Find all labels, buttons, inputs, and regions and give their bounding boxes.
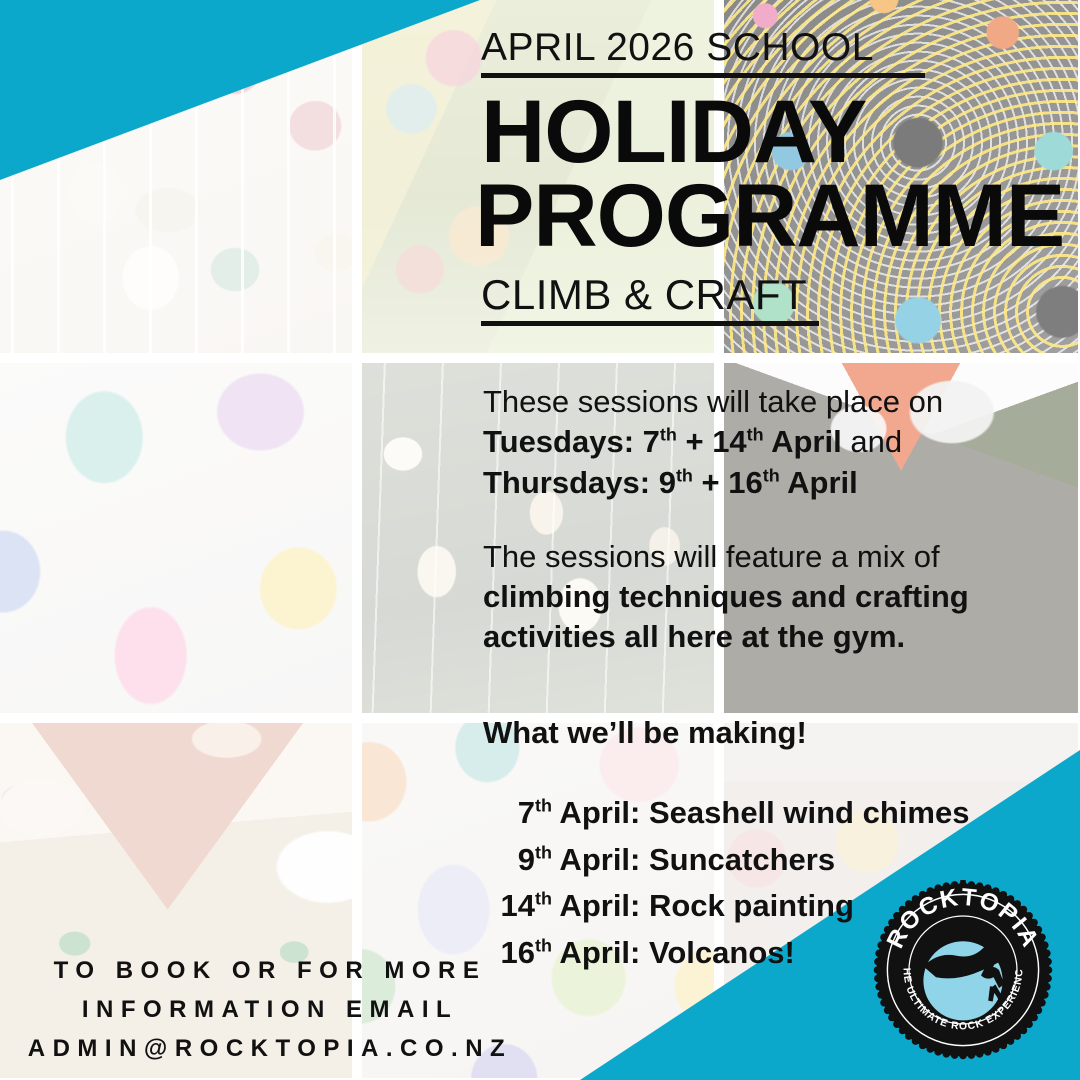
tuesdays-ordinal-1: th	[660, 425, 677, 445]
session-content-paragraph: The sessions will feature a mix of climb…	[483, 537, 1043, 658]
tuesdays-ordinal-2: th	[747, 425, 764, 445]
thursdays-line: Thursdays: 9th + 16th April	[483, 463, 1043, 503]
contact-email[interactable]: ADMIN@ROCKTOPIA.CO.NZ	[0, 1030, 540, 1069]
contact-block: TO BOOK OR FOR MORE INFORMATION EMAIL AD…	[0, 952, 540, 1069]
mix-bold-line-1: climbing techniques and crafting	[483, 577, 1043, 617]
making-heading: What we’ll be making!	[483, 715, 807, 751]
text-overlay: APRIL 2026 SCHOOL HOLIDAY PROGRAMME CLIM…	[0, 0, 1080, 1080]
thursdays-month: April	[780, 465, 858, 500]
contact-line-1: TO BOOK OR FOR MORE	[0, 952, 540, 991]
thursdays-ordinal-2: th	[763, 465, 780, 485]
list-item: 9th April: Suncatchers	[483, 837, 1043, 884]
poster-canvas: APRIL 2026 SCHOOL HOLIDAY PROGRAMME CLIM…	[0, 0, 1080, 1080]
header-rule-top	[481, 73, 925, 78]
header-kicker: APRIL 2026 SCHOOL	[481, 28, 1061, 69]
mix-intro-line: The sessions will feature a mix of	[483, 537, 1043, 577]
item-text: April: Rock painting	[552, 888, 854, 923]
item-text: April: Suncatchers	[552, 842, 835, 877]
list-item: 7th April: Seashell wind chimes	[483, 790, 1043, 837]
tuesdays-line: Tuesdays: 7th + 14th April and	[483, 422, 1043, 462]
page-title: HOLIDAY PROGRAMME	[481, 90, 1061, 257]
rocktopia-logo-icon: ROCKTOPIA THE ULTIMATE ROCK EXPERIENCE	[873, 880, 1053, 1060]
header-subkicker: CLIMB & CRAFT	[481, 271, 1061, 319]
item-ordinal: th	[535, 796, 552, 816]
mix-bold-line-2: activities all here at the gym.	[483, 617, 1043, 657]
item-text: April: Seashell wind chimes	[552, 795, 969, 830]
thursdays-second-date: + 16	[693, 465, 763, 500]
item-date: 14	[483, 883, 535, 930]
item-date: 9	[483, 837, 535, 884]
header-rule-bottom	[481, 321, 819, 326]
title-line-2: PROGRAMME	[475, 174, 1061, 258]
item-date: 7	[483, 790, 535, 837]
tuesdays-month: April	[764, 424, 842, 459]
poster-header: APRIL 2026 SCHOOL HOLIDAY PROGRAMME CLIM…	[481, 28, 1061, 326]
item-ordinal: th	[535, 889, 552, 909]
item-text: April: Volcanos!	[552, 935, 795, 970]
thursdays-ordinal-1: th	[676, 465, 693, 485]
thursdays-label: Thursdays: 9	[483, 465, 676, 500]
sessions-intro-line: These sessions will take place on	[483, 382, 1043, 422]
tuesdays-and: and	[842, 424, 902, 459]
tuesdays-label: Tuesdays: 7	[483, 424, 660, 459]
item-ordinal: th	[535, 842, 552, 862]
contact-line-2: INFORMATION EMAIL	[0, 991, 540, 1030]
tuesdays-second-date: + 14	[677, 424, 747, 459]
rocktopia-logo: ROCKTOPIA THE ULTIMATE ROCK EXPERIENCE	[873, 880, 1053, 1060]
session-details: These sessions will take place on Tuesda…	[483, 382, 1043, 658]
